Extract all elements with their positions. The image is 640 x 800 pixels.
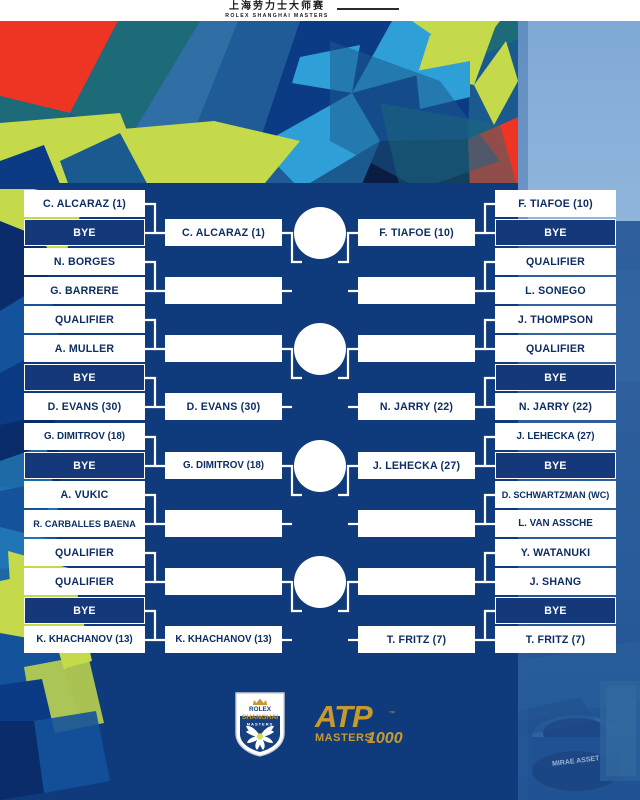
bracket-slot[interactable]: F. TIAFOE (10) (358, 219, 475, 246)
bracket-slot[interactable] (358, 568, 475, 595)
bracket-slot[interactable]: QUALIFIER (24, 539, 145, 566)
bracket-slot[interactable] (165, 277, 282, 304)
bracket-slot[interactable]: A. MULLER (24, 335, 145, 362)
player-name: N. JARRY (22) (519, 401, 592, 413)
player-name: C. ALCARAZ (1) (43, 198, 126, 210)
player-name: QUALIFIER (55, 547, 114, 559)
bracket-slot[interactable]: D. EVANS (30) (165, 393, 282, 420)
player-name: D. SCHWARTZMAN (WC) (502, 490, 610, 500)
bracket-slot[interactable]: N. BORGES (24, 248, 145, 275)
player-name: G. DIMITROV (18) (44, 431, 125, 442)
bracket-slot[interactable]: G. DIMITROV (18) (165, 452, 282, 479)
bracket-slot[interactable]: N. JARRY (22) (495, 393, 616, 420)
player-name: Y. WATANUKI (521, 547, 591, 559)
bracket-slot[interactable]: F. TIAFOE (10) (495, 190, 616, 217)
bracket-slot[interactable]: G. BARRERE (24, 277, 145, 304)
player-name: BYE (73, 227, 95, 239)
bracket-slot[interactable]: BYE (495, 219, 616, 246)
player-name: J. LEHECKA (27) (516, 431, 594, 442)
bracket-slot[interactable]: L. VAN ASSCHE (495, 510, 616, 537)
bracket-slot[interactable]: R. CARBALLES BAENA (24, 510, 145, 537)
bracket-slot[interactable]: QUALIFIER (24, 568, 145, 595)
bracket-slot[interactable]: D. SCHWARTZMAN (WC) (495, 481, 616, 508)
player-name: G. BARRERE (50, 285, 119, 297)
bracket-slot[interactable]: K. KHACHANOV (13) (24, 626, 145, 653)
player-name: T. FRITZ (7) (387, 634, 446, 646)
bracket-slot[interactable]: QUALIFIER (495, 248, 616, 275)
player-name: A. VUKIC (60, 489, 108, 501)
player-name: BYE (73, 372, 95, 384)
player-name: J. LEHECKA (27) (373, 460, 460, 472)
atp-wordmark: ATP (314, 699, 373, 734)
player-name: BYE (544, 372, 566, 384)
center-circle-group (294, 207, 346, 608)
player-name: QUALIFIER (55, 314, 114, 326)
bracket-slot[interactable]: N. JARRY (22) (358, 393, 475, 420)
header-rule (337, 8, 399, 10)
bracket-slot[interactable]: J. LEHECKA (27) (495, 423, 616, 450)
player-name: J. SHANG (530, 576, 582, 588)
player-name: T. FRITZ (7) (526, 634, 585, 646)
bracket-slot[interactable]: BYE (24, 364, 145, 391)
bracket-slot[interactable]: T. FRITZ (7) (495, 626, 616, 653)
bracket-slot[interactable]: J. THOMPSON (495, 306, 616, 333)
bracket-slot[interactable]: D. EVANS (30) (24, 393, 145, 420)
player-name: BYE (73, 605, 95, 617)
atp-masters-1000-logo: ATP ™ MASTERS 1000 (311, 697, 407, 751)
bracket-slot[interactable]: C. ALCARAZ (1) (24, 190, 145, 217)
bracket-slot[interactable]: C. ALCARAZ (1) (165, 219, 282, 246)
player-name: L. SONEGO (525, 285, 586, 297)
player-name: G. DIMITROV (18) (183, 460, 264, 471)
player-name: QUALIFIER (526, 343, 585, 355)
header-title-chinese: 上海劳力士大师赛 (229, 2, 325, 12)
player-name: F. TIAFOE (10) (518, 198, 593, 210)
bracket-slot[interactable] (358, 510, 475, 537)
player-name: A. MULLER (55, 343, 114, 355)
bracket-slot[interactable]: QUALIFIER (495, 335, 616, 362)
player-name: BYE (544, 605, 566, 617)
atp-masters-label: MASTERS (315, 732, 372, 744)
bracket-slot[interactable]: G. DIMITROV (18) (24, 423, 145, 450)
player-name: BYE (544, 460, 566, 472)
player-name: QUALIFIER (55, 576, 114, 588)
bracket-slot[interactable]: Y. WATANUKI (495, 539, 616, 566)
player-name: K. KHACHANOV (13) (175, 634, 271, 645)
bracket-slot[interactable]: A. VUKIC (24, 481, 145, 508)
rolex-wordmark: ROLEX (249, 706, 272, 713)
rolex-shanghai-masters-logo: ROLEX SHANGHAI MASTERS (233, 689, 287, 759)
bracket-slot[interactable] (165, 335, 282, 362)
atp-1000-label: 1000 (367, 730, 403, 747)
player-name: D. EVANS (30) (48, 401, 122, 413)
bracket-slot[interactable]: J. LEHECKA (27) (358, 452, 475, 479)
bracket-slot[interactable] (165, 510, 282, 537)
player-name: N. BORGES (54, 256, 115, 268)
bracket-slot[interactable]: BYE (24, 452, 145, 479)
player-name: K. KHACHANOV (13) (36, 634, 132, 645)
footer-logos: ROLEX SHANGHAI MASTERS ATP ™ MASTERS 100… (0, 676, 640, 772)
bracket-slot[interactable]: L. SONEGO (495, 277, 616, 304)
player-name: R. CARBALLES BAENA (33, 519, 136, 529)
shanghai-wordmark: SHANGHAI (242, 714, 278, 721)
player-name: C. ALCARAZ (1) (182, 227, 265, 239)
bracket-slot[interactable] (165, 568, 282, 595)
player-name: BYE (73, 460, 95, 472)
bracket-slot[interactable]: BYE (24, 597, 145, 624)
bracket-slot[interactable] (358, 277, 475, 304)
bracket-slot[interactable]: BYE (495, 597, 616, 624)
bracket-slot[interactable]: BYE (24, 219, 145, 246)
bracket-slot[interactable]: J. SHANG (495, 568, 616, 595)
bracket-slot[interactable] (358, 335, 475, 362)
bracket-slot[interactable]: BYE (495, 364, 616, 391)
player-name: N. JARRY (22) (380, 401, 453, 413)
bracket-slot[interactable]: BYE (495, 452, 616, 479)
player-name: J. THOMPSON (518, 314, 593, 326)
bracket-slot[interactable]: QUALIFIER (24, 306, 145, 333)
bracket-slot[interactable]: T. FRITZ (7) (358, 626, 475, 653)
header-title-english: ROLEX SHANGHAI MASTERS (225, 14, 328, 19)
player-name: L. VAN ASSCHE (518, 518, 593, 529)
player-name: BYE (544, 227, 566, 239)
atp-trademark: ™ (389, 710, 395, 717)
player-name: F. TIAFOE (10) (379, 227, 454, 239)
player-name: QUALIFIER (526, 256, 585, 268)
page-header: 上海劳力士大师赛 ROLEX SHANGHAI MASTERS (0, 0, 640, 21)
masters-wordmark: MASTERS (247, 721, 274, 726)
bracket-slot[interactable]: K. KHACHANOV (13) (165, 626, 282, 653)
player-name: D. EVANS (30) (187, 401, 261, 413)
